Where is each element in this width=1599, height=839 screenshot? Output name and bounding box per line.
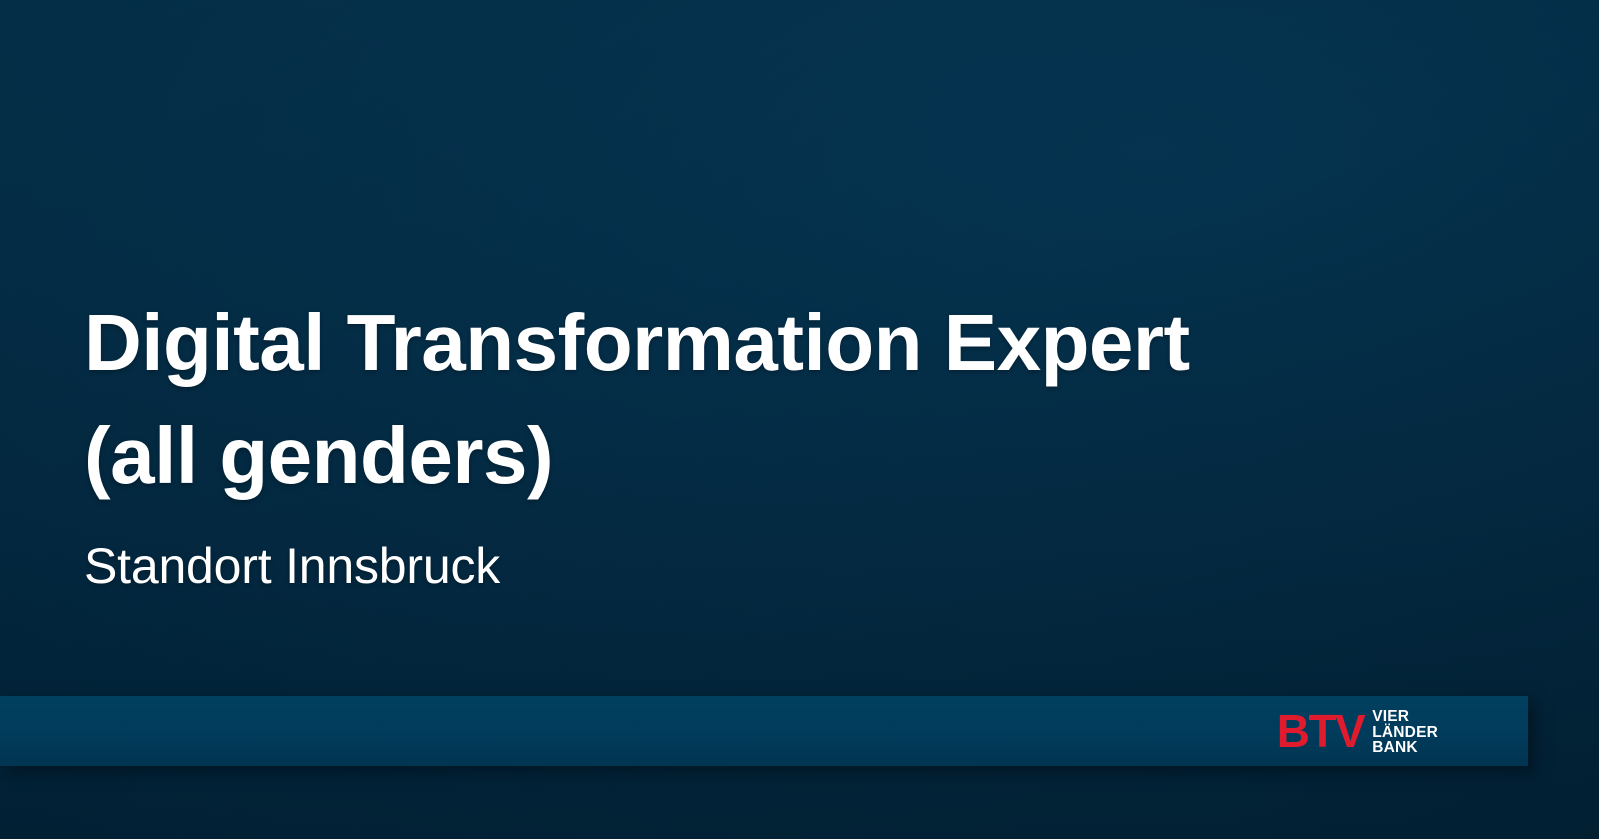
page-title: Digital Transformation Expert (all gende… <box>84 286 1444 512</box>
presentation-slide: Digital Transformation Expert (all gende… <box>0 0 1599 839</box>
slide-content: Digital Transformation Expert (all gende… <box>84 286 1444 596</box>
btv-logo-tagline: VIER LÄNDER BANK <box>1372 707 1438 756</box>
btv-logo: BTV VIER LÄNDER BANK <box>1277 707 1438 756</box>
slide-subtitle: Standort Innsbruck <box>84 536 1444 596</box>
btv-logo-tagline-line-3: BANK <box>1372 740 1438 756</box>
footer-bar: BTV VIER LÄNDER BANK <box>0 696 1528 766</box>
btv-logo-tagline-line-2: LÄNDER <box>1372 724 1438 740</box>
btv-logo-tagline-line-1: VIER <box>1372 709 1438 725</box>
btv-logo-wordmark: BTV <box>1277 708 1365 754</box>
